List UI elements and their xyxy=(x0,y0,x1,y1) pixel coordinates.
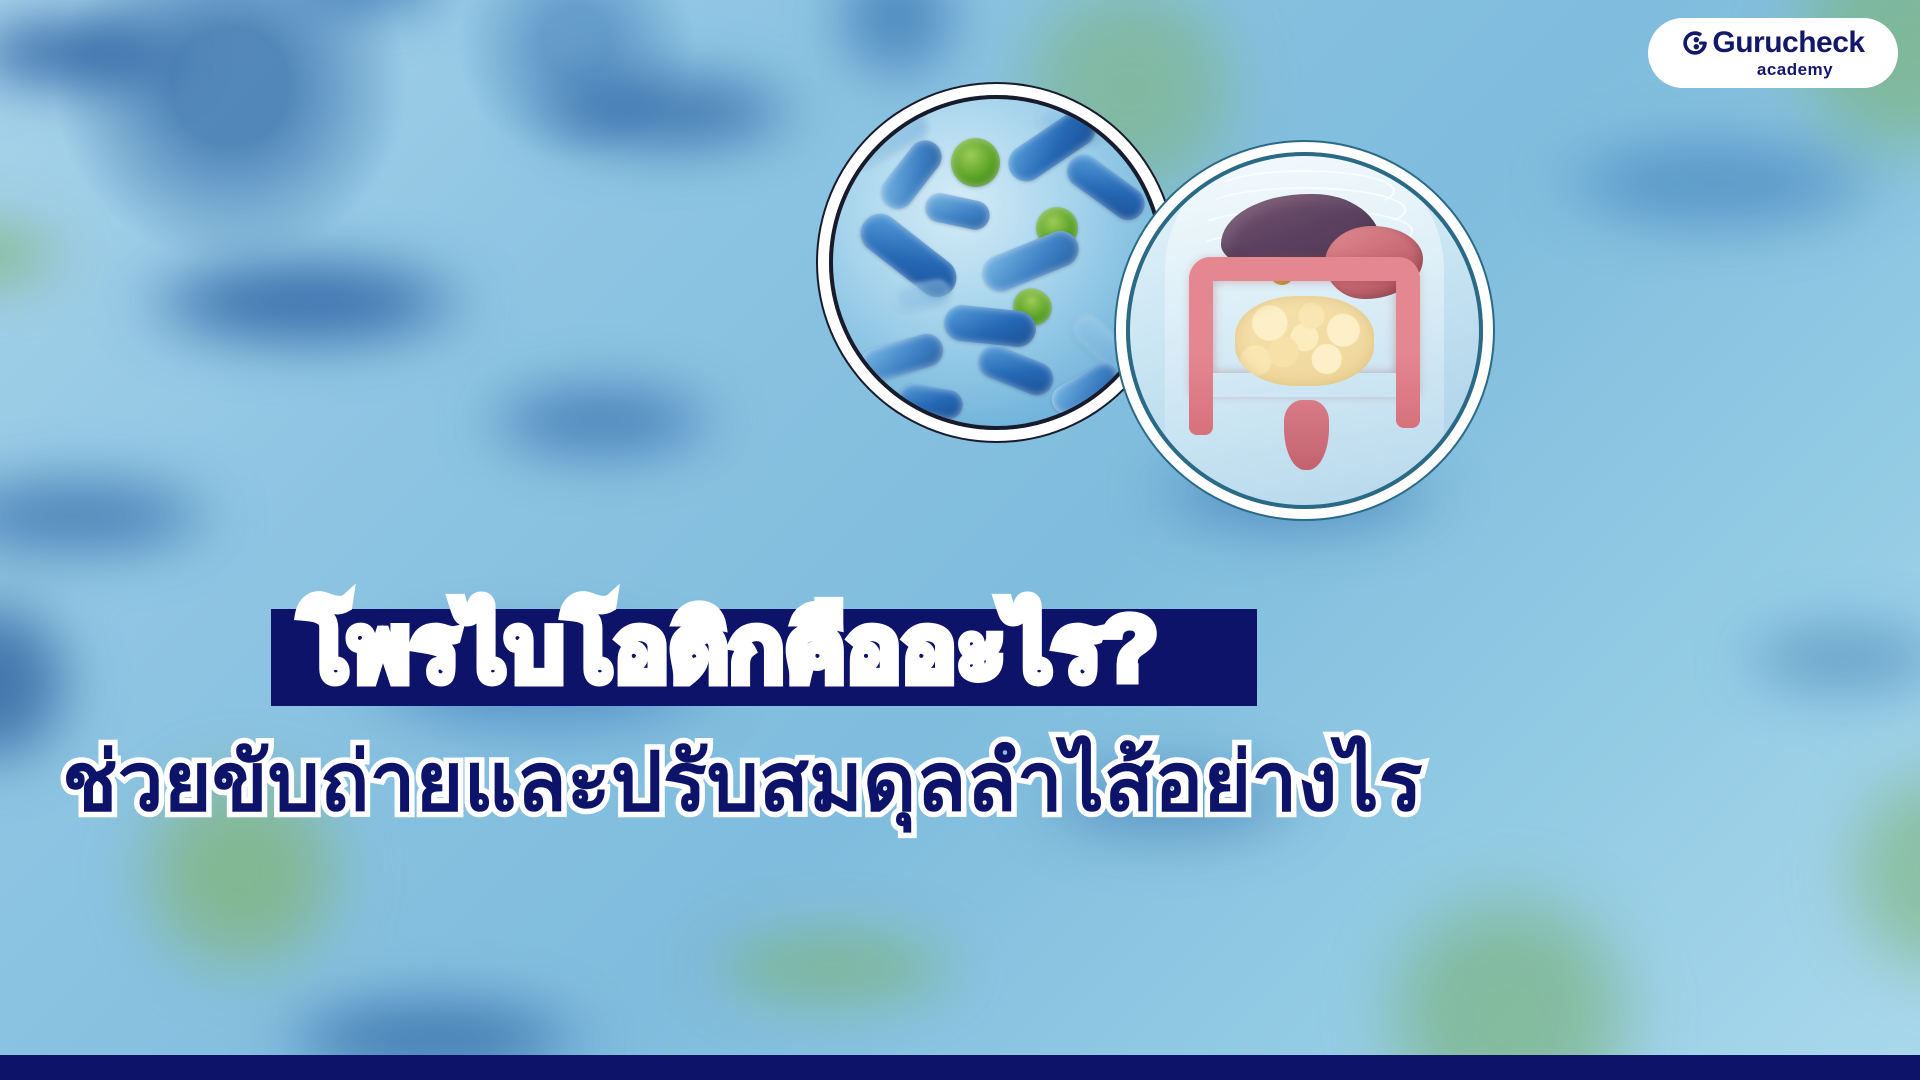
small-intestine xyxy=(1235,296,1375,387)
gurucheck-g-mark-icon xyxy=(1681,29,1709,57)
footer-bar xyxy=(0,1055,1920,1080)
digestive-system-circle-image xyxy=(1126,152,1483,509)
logo-wordmark-row: Gurucheck xyxy=(1681,28,1864,58)
ascending-colon xyxy=(1396,351,1420,428)
bacteria-circle-image xyxy=(829,95,1164,430)
page-subtitle: ช่วยขับถ่ายและปรับสมดุลลำไส้อย่างไร xyxy=(62,742,1512,824)
brand-logo[interactable]: Gurucheck academy xyxy=(1648,18,1898,88)
logo-subtitle-text: academy xyxy=(1757,61,1833,78)
logo-name-text: Gurucheck xyxy=(1712,28,1864,58)
descending-colon xyxy=(1189,351,1213,435)
page-title: โพรไบโอติกคืออะไร? xyxy=(300,603,1230,695)
